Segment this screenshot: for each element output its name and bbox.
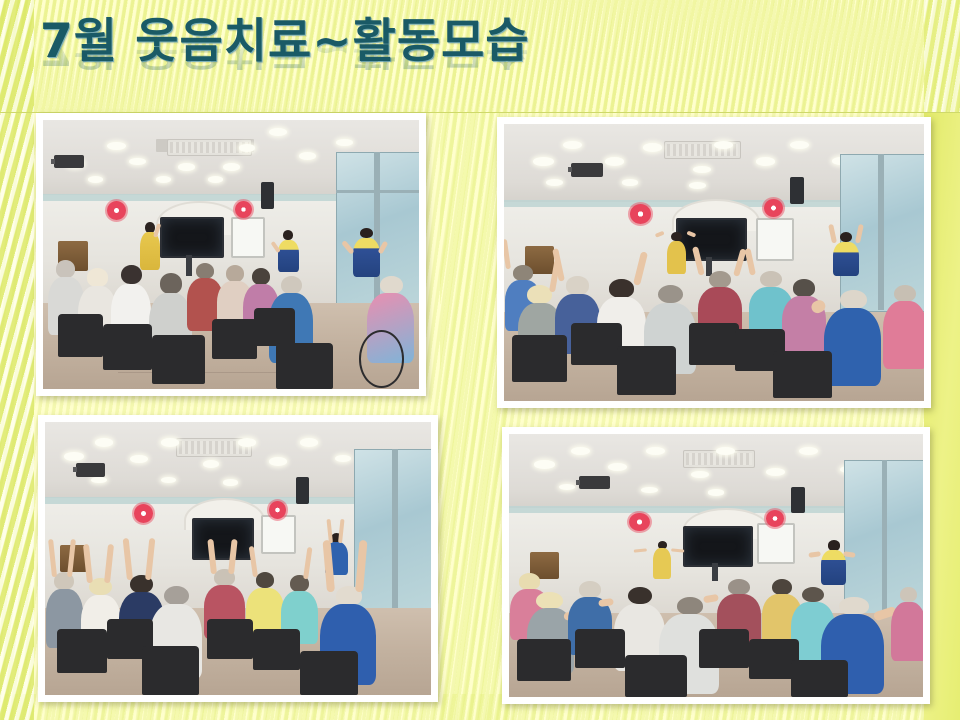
photo-bottom-right-image bbox=[509, 434, 923, 697]
photo-top-left[interactable] bbox=[36, 113, 426, 396]
photo-top-left-image bbox=[43, 120, 419, 389]
photo-bottom-left[interactable] bbox=[38, 415, 438, 702]
right-top-accent-band bbox=[924, 0, 960, 113]
title-block: 7월 웃음치료~활동모습 7월 웃음치료~활동모습 bbox=[40, 18, 760, 110]
left-accent-band bbox=[0, 0, 34, 720]
slide-canvas: 7월 웃음치료~활동모습 7월 웃음치료~활동모습 bbox=[0, 0, 960, 720]
page-title: 7월 웃음치료~활동모습 bbox=[40, 18, 760, 65]
photo-bottom-left-image bbox=[45, 422, 431, 695]
photo-bottom-right[interactable] bbox=[502, 427, 930, 704]
photo-top-right-image bbox=[504, 124, 924, 401]
photo-top-right[interactable] bbox=[497, 117, 931, 408]
